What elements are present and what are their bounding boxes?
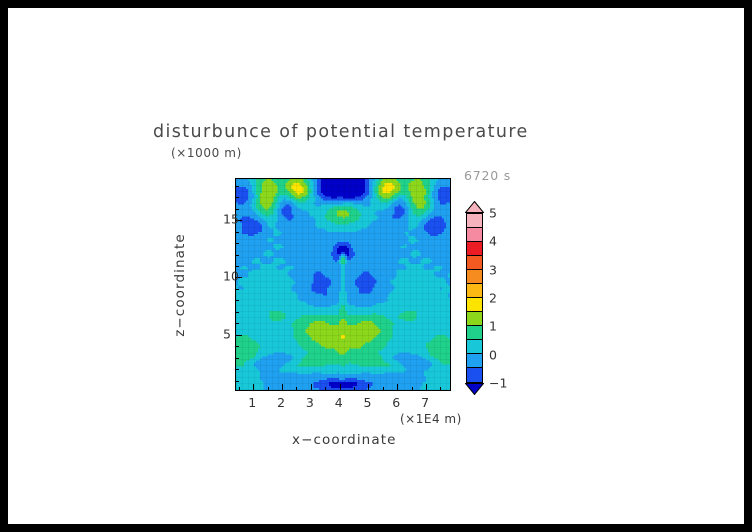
colorbar-extend-bottom-icon bbox=[465, 383, 484, 395]
x-tick-minor bbox=[296, 387, 297, 390]
y-tick-label: 5 bbox=[223, 326, 231, 341]
contour-plot-area bbox=[235, 178, 451, 391]
y-tick-minor bbox=[236, 358, 239, 359]
colorbar-band bbox=[467, 298, 482, 312]
y-tick bbox=[236, 335, 242, 336]
colorbar-band bbox=[467, 256, 482, 270]
figure-page: disturbunce of potential temperature (×1… bbox=[0, 0, 752, 532]
y-tick-minor bbox=[236, 369, 239, 370]
colorbar-band bbox=[467, 214, 482, 228]
x-tick bbox=[311, 384, 312, 390]
x-tick bbox=[368, 384, 369, 390]
colorbar-band bbox=[467, 284, 482, 298]
colorbar-tick-label: −1 bbox=[489, 376, 507, 391]
x-tick-minor bbox=[268, 387, 269, 390]
heatmap-field bbox=[236, 179, 450, 390]
y-tick-minor bbox=[236, 346, 239, 347]
x-tick-label: 6 bbox=[392, 395, 400, 410]
x-tick bbox=[253, 384, 254, 390]
colorbar bbox=[466, 213, 483, 383]
colorbar-band bbox=[467, 340, 482, 354]
y-tick-minor bbox=[236, 323, 239, 324]
colorbar-tick-label: 0 bbox=[489, 347, 497, 362]
y-tick-minor bbox=[236, 300, 239, 301]
colorbar-band bbox=[467, 368, 482, 382]
page-title: disturbunce of potential temperature bbox=[153, 122, 573, 142]
x-unit-label: (×1E4 m) bbox=[400, 412, 462, 426]
x-tick bbox=[397, 384, 398, 390]
colorbar-tick-label: 1 bbox=[489, 319, 497, 334]
y-tick-label: 10 bbox=[223, 269, 239, 284]
x-tick-minor bbox=[383, 387, 384, 390]
colorbar-tick-label: 3 bbox=[489, 262, 497, 277]
y-tick-minor bbox=[236, 381, 239, 382]
y-tick-minor bbox=[236, 186, 239, 187]
x-tick-minor bbox=[440, 387, 441, 390]
y-tick-minor bbox=[236, 255, 239, 256]
colorbar-band bbox=[467, 242, 482, 256]
y-unit-label: (×1000 m) bbox=[171, 146, 242, 160]
y-axis-title: z−coordinate bbox=[172, 233, 188, 337]
figure-canvas: disturbunce of potential temperature (×1… bbox=[8, 8, 744, 524]
x-tick bbox=[282, 384, 283, 390]
colorbar-extend-top-icon bbox=[465, 201, 484, 213]
y-tick-minor bbox=[236, 197, 239, 198]
x-axis-title: x−coordinate bbox=[292, 432, 397, 448]
x-tick-label: 1 bbox=[248, 395, 256, 410]
x-tick-label: 2 bbox=[277, 395, 285, 410]
x-tick-minor bbox=[325, 387, 326, 390]
y-tick-label: 15 bbox=[223, 212, 239, 227]
x-tick-minor bbox=[354, 387, 355, 390]
y-tick-minor bbox=[236, 312, 239, 313]
x-tick bbox=[340, 384, 341, 390]
colorbar-tick-label: 4 bbox=[489, 234, 497, 249]
x-tick-minor bbox=[239, 387, 240, 390]
colorbar-band bbox=[467, 312, 482, 326]
colorbar-tick-label: 5 bbox=[489, 206, 497, 221]
y-tick-minor bbox=[236, 232, 239, 233]
y-tick-minor bbox=[236, 209, 239, 210]
x-tick-label: 5 bbox=[363, 395, 371, 410]
x-tick bbox=[426, 384, 427, 390]
y-tick-minor bbox=[236, 289, 239, 290]
colorbar-tick-label: 2 bbox=[489, 291, 497, 306]
colorbar-band bbox=[467, 270, 482, 284]
colorbar-band bbox=[467, 326, 482, 340]
x-tick-minor bbox=[412, 387, 413, 390]
y-tick-minor bbox=[236, 243, 239, 244]
y-tick-minor bbox=[236, 266, 239, 267]
x-tick-label: 7 bbox=[421, 395, 429, 410]
colorbar-band bbox=[467, 354, 482, 368]
x-tick-label: 4 bbox=[335, 395, 343, 410]
x-tick-label: 3 bbox=[306, 395, 314, 410]
timestamp-label: 6720 s bbox=[464, 168, 511, 183]
colorbar-band bbox=[467, 228, 482, 242]
